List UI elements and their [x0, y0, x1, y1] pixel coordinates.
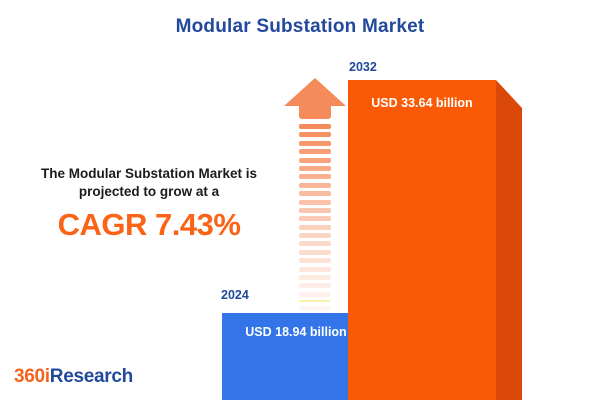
- arrow-stripe: [299, 267, 331, 272]
- market-infographic: Modular Substation Market The Modular Su…: [0, 0, 600, 400]
- arrow-stripe: [299, 191, 331, 196]
- bar-value-2032: USD 33.64 billion: [348, 96, 496, 110]
- arrow-stripe: [299, 216, 331, 221]
- bar-2032: [348, 80, 496, 400]
- arrow-stripe: [299, 292, 331, 297]
- bar-2032-side-face: [496, 80, 522, 400]
- cagr-value: CAGR 7.43%: [18, 209, 280, 242]
- arrow-stripe: [299, 258, 331, 263]
- arrow-stripe: [299, 149, 331, 154]
- arrow-head-icon: [284, 78, 346, 106]
- arrow-stripe: [299, 208, 331, 213]
- bar-label-2024: 2024: [221, 288, 249, 302]
- arrow-stripe: [299, 124, 331, 129]
- brand-logo: 360iResearch: [14, 366, 133, 388]
- arrow-stripe: [299, 166, 331, 171]
- arrow-stripe: [299, 141, 331, 146]
- arrow-stripe: [299, 241, 331, 246]
- arrow-stripe: [299, 225, 331, 230]
- arrow-stripe: [299, 283, 331, 288]
- arrow-stripe: [299, 233, 331, 238]
- arrow-stripe: [299, 200, 331, 205]
- bar-label-2032: 2032: [349, 60, 377, 74]
- logo-text-secondary: Research: [50, 366, 133, 387]
- arrow-stripe: [299, 250, 331, 255]
- caption-block: The Modular Substation Market is project…: [18, 165, 280, 242]
- caption-line-2: projected to grow at a: [18, 183, 280, 201]
- arrow-stripe: [299, 174, 331, 179]
- arrow-stripe: [299, 183, 331, 188]
- arrow-stripe: [299, 306, 331, 311]
- arrow-stripe: [299, 132, 331, 137]
- arrow-neck: [299, 105, 331, 119]
- arrow-stripe: [299, 158, 331, 163]
- page-title: Modular Substation Market: [0, 16, 600, 38]
- growth-arrow-icon: [284, 78, 346, 293]
- arrow-stripe: [299, 275, 331, 280]
- logo-text-primary: 360i: [14, 366, 50, 387]
- caption-line-1: The Modular Substation Market is: [18, 165, 280, 183]
- arrow-stripe: [299, 300, 331, 302]
